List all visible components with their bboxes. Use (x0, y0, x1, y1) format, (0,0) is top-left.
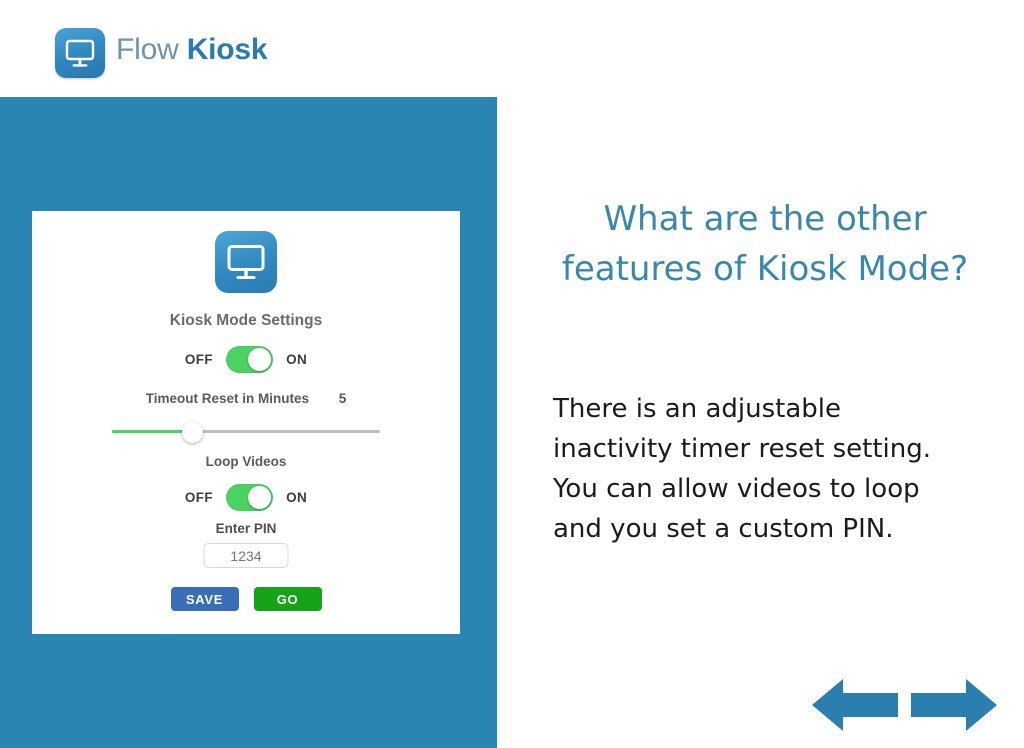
timeout-reset-label: Timeout Reset in Minutes (146, 391, 309, 406)
settings-card-title: Kiosk Mode Settings (32, 312, 460, 330)
kiosk-mode-toggle[interactable] (226, 346, 273, 373)
enter-pin-label: Enter PIN (32, 521, 460, 536)
slider-fill (112, 430, 192, 433)
brand-wordmark: Flow Kiosk (116, 33, 267, 67)
save-button[interactable]: SAVE (171, 587, 239, 611)
loop-toggle-off-label: OFF (185, 490, 213, 505)
arrow-right-icon[interactable] (911, 676, 997, 734)
timeout-reset-row: Timeout Reset in Minutes 5 (32, 391, 460, 406)
kiosk-display-icon (55, 28, 105, 78)
kiosk-toggle-on-label: ON (286, 352, 307, 367)
toggle-knob (248, 348, 271, 371)
slide-heading: What are the other features of Kiosk Mod… (550, 195, 980, 294)
pin-input[interactable] (204, 543, 289, 568)
kiosk-mode-toggle-row: OFF ON (32, 346, 460, 373)
loop-toggle-on-label: ON (286, 490, 307, 505)
left-blue-panel: Kiosk Mode Settings OFF ON Timeout Reset… (0, 97, 497, 748)
kiosk-toggle-off-label: OFF (185, 352, 213, 367)
card-button-group: SAVE GO (32, 587, 460, 611)
loop-videos-toggle-row: OFF ON (32, 484, 460, 511)
slide-body-text: There is an adjustable inactivity timer … (553, 389, 933, 549)
arrow-left-icon[interactable] (812, 676, 898, 734)
brand-header: Flow Kiosk (0, 0, 1024, 96)
slider-thumb[interactable] (182, 422, 203, 443)
loop-videos-label: Loop Videos (32, 454, 460, 469)
brand-word-kiosk: Kiosk (187, 33, 268, 66)
timeout-reset-slider[interactable] (112, 423, 380, 441)
toggle-knob (248, 486, 271, 509)
loop-videos-toggle[interactable] (226, 484, 273, 511)
brand-word-flow: Flow (116, 33, 179, 66)
go-button[interactable]: GO (254, 587, 322, 611)
timeout-reset-value: 5 (339, 391, 347, 406)
kiosk-display-icon (215, 231, 277, 293)
kiosk-settings-card: Kiosk Mode Settings OFF ON Timeout Reset… (32, 211, 460, 634)
slide-navigation (812, 676, 997, 734)
right-content-area: What are the other features of Kiosk Mod… (520, 97, 1024, 748)
